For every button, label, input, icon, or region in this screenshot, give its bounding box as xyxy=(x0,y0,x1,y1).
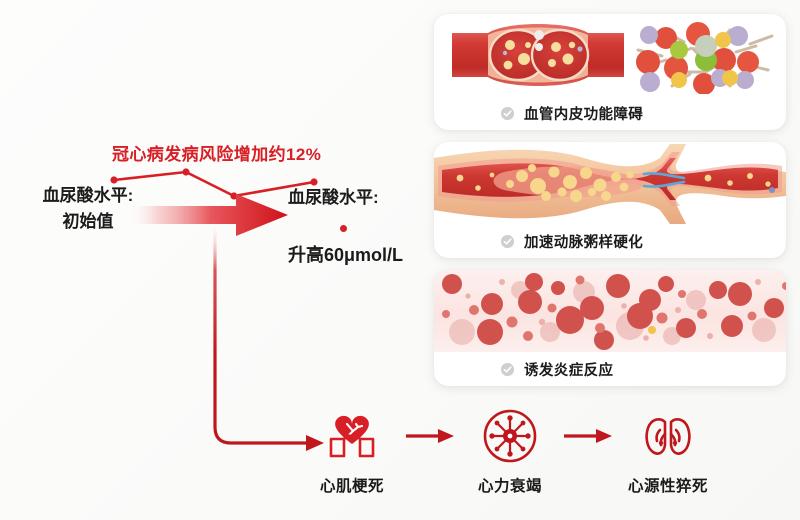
card-illustration xyxy=(434,142,786,224)
mechanism-cards: 血管内皮功能障碍 xyxy=(434,14,786,386)
card-caption: 诱发炎症反应 xyxy=(434,352,786,386)
card-illustration xyxy=(434,14,786,96)
outcome-myocardial-infarction[interactable]: 心肌梗死 xyxy=(300,404,404,496)
outcome-label: 心肌梗死 xyxy=(320,474,384,496)
card-illustration xyxy=(434,270,786,352)
card-label-text: 加速动脉粥样硬化 xyxy=(524,231,643,252)
check-circle-icon xyxy=(500,362,515,377)
artery-plaque-icon xyxy=(434,142,786,224)
outcomes-row: 心肌梗死 xyxy=(300,404,720,514)
blood-vessel-cross-section-icon xyxy=(448,17,628,93)
check-circle-icon xyxy=(500,234,515,249)
lungs-icon xyxy=(638,404,698,468)
step-arrow-2 xyxy=(562,404,616,468)
card-endothelial-dysfunction[interactable]: 血管内皮功能障碍 xyxy=(434,14,786,130)
outcome-label: 心源性猝死 xyxy=(628,474,708,496)
risk-increase-caption: 冠心病发病风险增加约12% xyxy=(112,140,321,165)
check-circle-icon xyxy=(500,106,515,121)
molecule-cluster-icon xyxy=(632,16,782,94)
heart-in-hands-icon xyxy=(322,404,382,468)
card-caption: 血管内皮功能障碍 xyxy=(434,96,786,130)
card-inflammatory-response[interactable]: 诱发炎症反应 xyxy=(434,270,786,386)
outcome-heart-failure[interactable]: 心力衰竭 xyxy=(458,404,562,496)
outcome-sudden-cardiac-death[interactable]: 心源性猝死 xyxy=(616,404,720,496)
card-label-text: 诱发炎症反应 xyxy=(524,359,613,380)
infographic-canvas: 冠心病发病风险增加约12% 血尿酸水平: 初始值 血尿酸水平: 升高60μmol… xyxy=(0,0,800,520)
inflammatory-cells-icon xyxy=(434,270,786,352)
elevated-label-line1: 血尿酸水平: xyxy=(288,185,403,211)
card-caption: 加速动脉粥样硬化 xyxy=(434,224,786,258)
cell-burst-circle-icon xyxy=(480,404,540,468)
step-arrow-1 xyxy=(404,404,458,468)
card-label-text: 血管内皮功能障碍 xyxy=(524,103,643,124)
outcome-label: 心力衰竭 xyxy=(478,474,542,496)
card-accelerated-atherosclerosis[interactable]: 加速动脉粥样硬化 xyxy=(434,142,786,258)
